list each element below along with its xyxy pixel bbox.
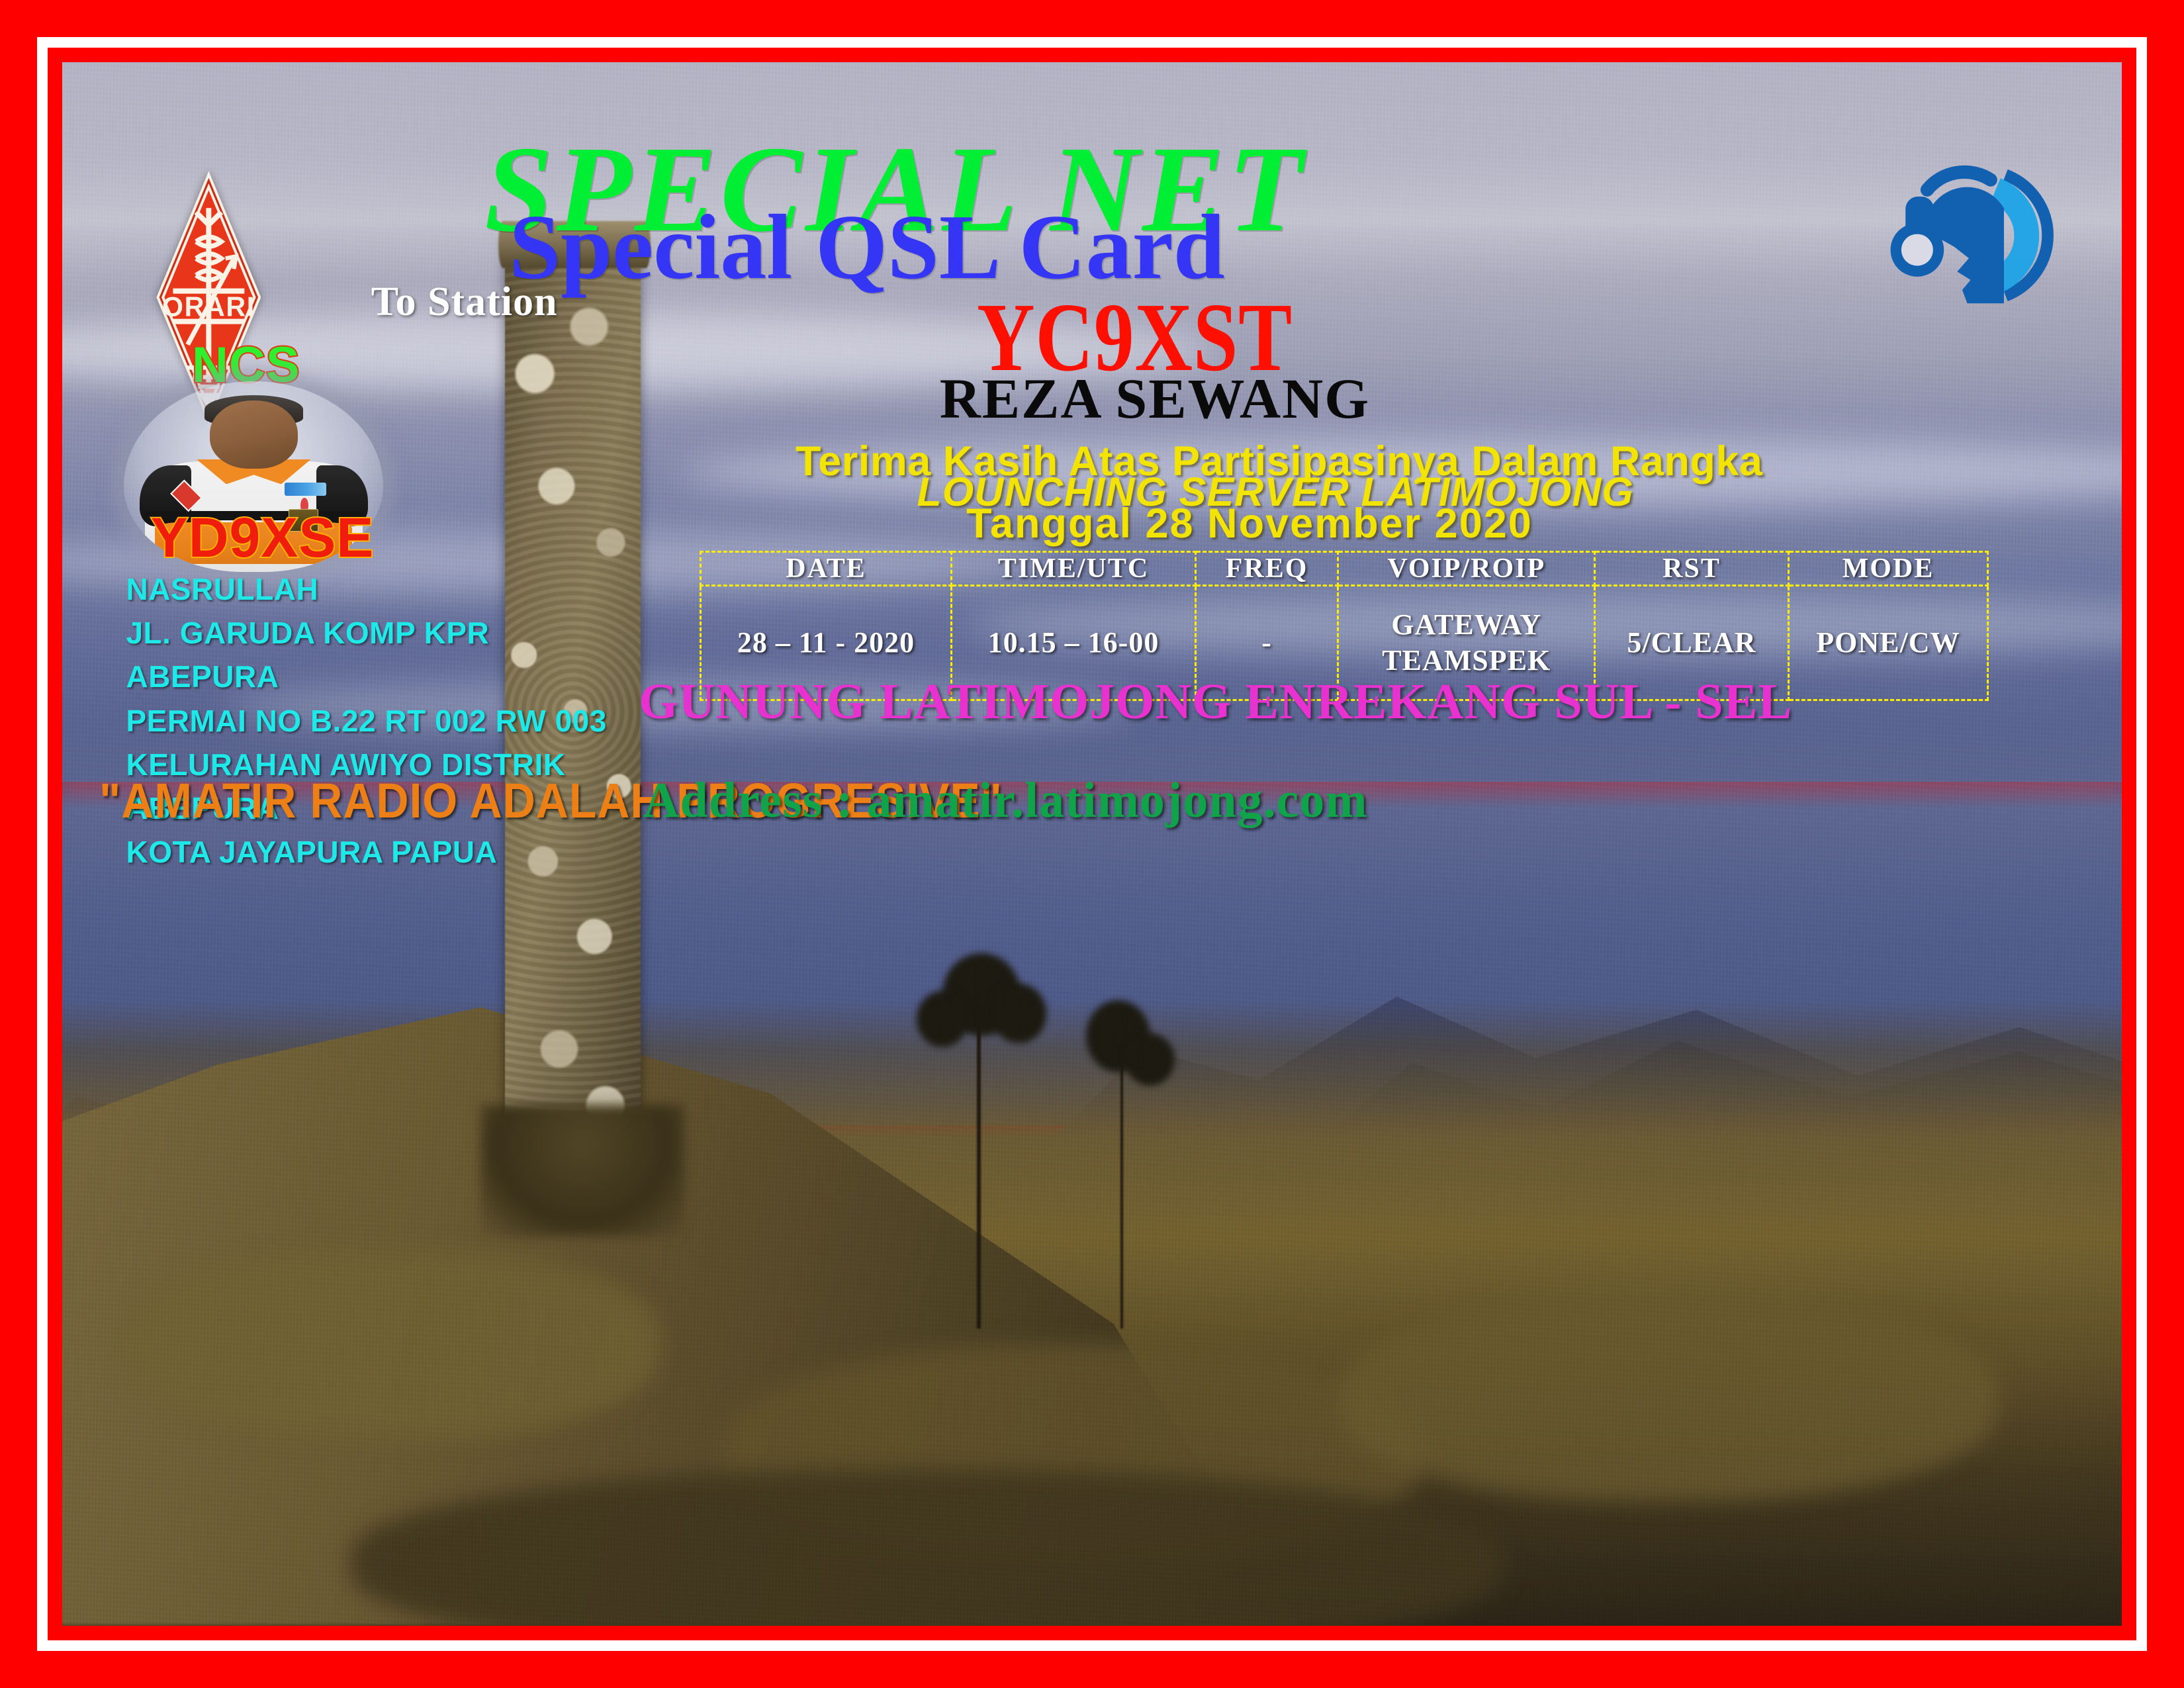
roip-headset-logo — [1889, 106, 2056, 364]
header-date: DATE — [701, 552, 952, 586]
svg-text:ORARI: ORARI — [162, 292, 255, 322]
qsl-card-outer-frame: ORARI — [0, 0, 2184, 1688]
cell-mode: PONE/CW — [1788, 586, 1988, 700]
to-station-label: To Station — [371, 281, 558, 322]
cell-voip-line1: GATEWAY — [1339, 607, 1594, 643]
footer-web-address: Address : amatir.latimojong.com — [643, 775, 1368, 825]
qsl-card-white-gap: ORARI — [37, 37, 2147, 1651]
address-line: ABEPURA — [126, 655, 606, 698]
table-header-row: DATE TIME/UTC FREQ VOIP/ROIP RST MODE — [701, 552, 1988, 586]
page-subtitle: Special QSL Card — [509, 201, 1224, 294]
header-rst: RST — [1595, 552, 1788, 586]
event-date-line: Tanggal 28 November 2020 — [966, 503, 1533, 545]
header-time: TIME/UTC — [951, 552, 1195, 586]
ncs-callsign: YD9XSE — [151, 510, 375, 565]
header-mode: MODE — [1788, 552, 1988, 586]
operator-name: REZA SEWANG — [940, 370, 1370, 427]
location-line: GUNUNG LATIMOJONG ENREKANG SUL - SEL — [639, 677, 1792, 727]
qsl-card-background-photo: ORARI — [62, 62, 2122, 1626]
header-voip: VOIP/ROIP — [1338, 552, 1595, 586]
address-line: NASRULLAH — [126, 567, 606, 611]
address-line: KOTA JAYAPURA PAPUA — [126, 830, 606, 874]
address-line: PERMAI NO B.22 RT 002 RW 003 — [126, 699, 606, 743]
qsl-card-inner-frame: ORARI — [48, 48, 2136, 1640]
header-freq: FREQ — [1196, 552, 1338, 586]
cell-voip-line2: TEAMSPEK — [1339, 643, 1594, 679]
address-line: JL. GARUDA KOMP KPR — [126, 611, 606, 655]
